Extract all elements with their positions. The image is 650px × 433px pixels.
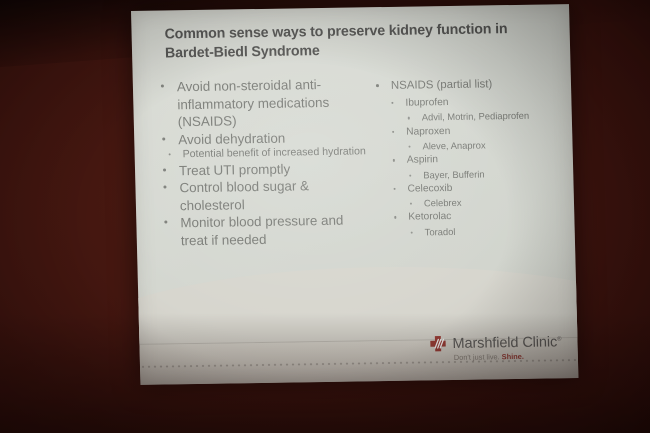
bullet-dot-icon [408,117,410,119]
bullet-text: Celebrex [424,195,570,209]
screenshot-root: Common sense ways to preserve kidney fun… [0,0,650,433]
bullet-dot-icon [163,186,166,189]
bullet-item-l1: Control blood sugar & cholesterol [157,176,370,214]
brand-name-text: Marshfield Clinic [452,334,557,352]
bullet-dot-icon [169,153,171,155]
bullet-dot-icon [162,137,165,140]
bullet-text: Ketorolac [408,209,570,225]
cross-logo-icon [429,335,446,352]
bullet-text: Aspirin [407,151,569,167]
bullet-item-l2: Ketorolac [374,209,570,225]
left-bullet-list: Avoid non-steroidal anti-inflammatory me… [155,75,371,249]
brand-trademark: ® [557,336,561,342]
bullet-item-l2: Aspirin [373,151,569,167]
bullet-item-l3: Toradol [375,224,571,239]
bullet-dot-icon [391,102,393,104]
bullet-text: Naproxen [406,123,568,139]
right-bullet-list: NSAIDS (partial list)IbuprofenAdvil, Mot… [371,76,571,240]
brand-name: Marshfield Clinic® [452,334,561,352]
bullet-item-l1: Monitor blood pressure and treat if need… [158,211,371,249]
bullet-text: Control blood sugar & cholesterol [179,176,370,214]
projected-slide: Common sense ways to preserve kidney fun… [131,4,578,385]
slide-surface: Common sense ways to preserve kidney fun… [131,4,578,385]
bullet-item-l1: NSAIDS (partial list) [371,76,567,94]
bullet-dot-icon [411,231,413,233]
bullet-dot-icon [393,159,395,161]
bullet-dot-icon [410,203,412,205]
slide-body: Avoid non-steroidal anti-inflammatory me… [133,72,571,79]
tagline-plain: Don't just live. [454,352,500,362]
bullet-text: Avoid non-steroidal anti-inflammatory me… [177,75,368,130]
logo-row: Marshfield Clinic® [429,333,561,352]
brand-tagline: Don't just live. Shine. [454,352,524,362]
bullet-dot-icon [164,221,167,224]
bullet-dot-icon [394,216,396,218]
bullet-dot-icon [163,168,166,171]
bullet-text: Bayer, Bufferin [423,167,569,181]
marshfield-clinic-logo: Marshfield Clinic® Don't just live. Shin… [429,333,562,362]
bullet-text: Toradol [425,224,571,238]
slide-title: Common sense ways to preserve kidney fun… [164,19,555,63]
bullet-item-l2: Naproxen [372,123,568,139]
bullet-dot-icon [376,84,379,87]
bullet-item-l2: Ibuprofen [371,94,567,110]
bullet-dot-icon [394,188,396,190]
bullet-text: NSAIDS (partial list) [391,76,567,94]
bullet-text: Monitor blood pressure and treat if need… [180,211,371,249]
bullet-item-l2: Celecoxib [373,180,569,196]
bullet-text: Advil, Motrin, Pediaprofen [422,110,568,124]
tagline-accent: Shine. [502,352,524,361]
bullet-text: Celecoxib [407,180,569,196]
bullet-item-l1: Avoid non-steroidal anti-inflammatory me… [155,75,368,131]
bullet-dot-icon [409,174,411,176]
bullet-dot-icon [161,84,164,87]
bullet-text: Ibuprofen [405,94,567,110]
bullet-text: Aleve, Anaprox [422,138,568,152]
bullet-dot-icon [392,130,394,132]
bullet-dot-icon [408,146,410,148]
